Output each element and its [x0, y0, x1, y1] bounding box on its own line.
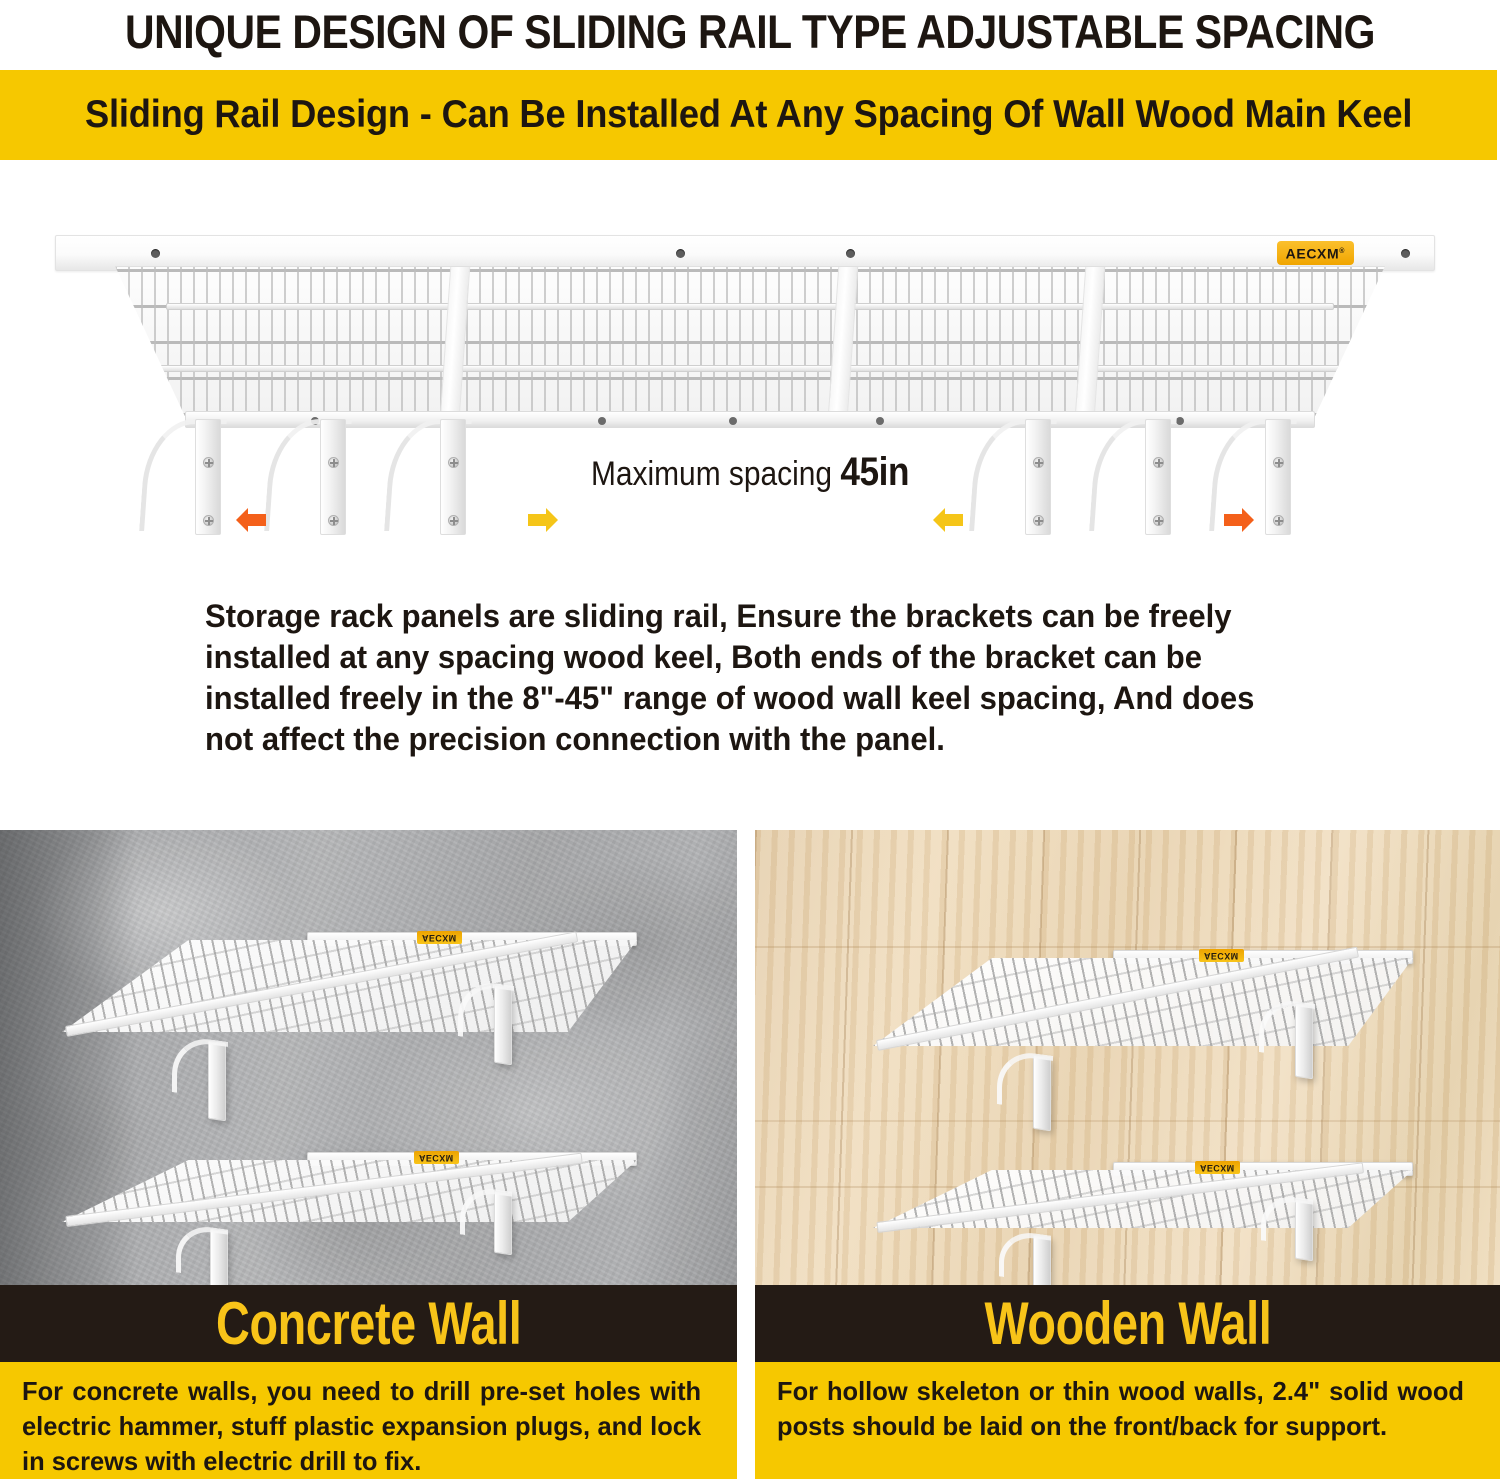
brand-badge: AECXM® — [1277, 241, 1354, 265]
bracket-gusset — [176, 1222, 228, 1279]
page-title: UNIQUE DESIGN OF SLIDING RAIL TYPE ADJUS… — [98, 2, 1403, 64]
panel-body-bar-concrete: For concrete walls, you need to drill pr… — [0, 1362, 737, 1479]
bracket-screw — [203, 515, 214, 526]
arrow-left-inner-icon — [931, 503, 965, 537]
panel-body-concrete: For concrete walls, you need to drill pr… — [22, 1374, 701, 1479]
arrow-right-outer-icon — [1222, 503, 1256, 537]
rail-screw-hole — [676, 249, 685, 258]
rail-screw-hole — [151, 249, 160, 258]
hero-product-illustration: AECXM® — [0, 175, 1500, 575]
panel-title-bar-wooden: Wooden Wall — [755, 1285, 1500, 1362]
description-paragraph: Storage rack panels are sliding rail, En… — [205, 596, 1291, 760]
lip-screw-hole — [598, 417, 606, 425]
infographic-page: UNIQUE DESIGN OF SLIDING RAIL TYPE ADJUS… — [0, 0, 1500, 1479]
rail-screw-hole — [846, 249, 855, 258]
subtitle-text: Sliding Rail Design - Can Be Installed A… — [85, 93, 1412, 137]
panel-body-wooden: For hollow skeleton or thin wood walls, … — [777, 1374, 1464, 1444]
lip-screw-hole — [729, 417, 737, 425]
deck-cross-beam — [153, 365, 1347, 372]
panel-concrete-wall: AECXM AECXM Concrete Wall — [0, 830, 737, 1479]
lip-screw-hole — [1176, 417, 1184, 425]
mounted-shelf-lower: AECXM — [62, 1150, 637, 1260]
max-spacing-value: 45in — [840, 450, 909, 494]
panel-wooden-wall: AECXM AECXM Wooden Wall — [755, 830, 1500, 1479]
shelf-mesh-deck — [115, 266, 1385, 416]
bracket-screw — [328, 515, 339, 526]
bracket-gusset — [997, 1048, 1053, 1112]
wooden-wall-photo: AECXM AECXM — [755, 830, 1500, 1285]
bracket-gusset — [999, 1228, 1051, 1283]
bracket-screw — [1273, 515, 1284, 526]
panel-title-concrete: Concrete Wall — [216, 1291, 521, 1357]
brand-badge: AECXM — [417, 931, 462, 944]
panel-title-wooden: Wooden Wall — [984, 1291, 1271, 1357]
brand-badge-text: AECXM — [1286, 246, 1340, 262]
panel-body-bar-wooden: For hollow skeleton or thin wood walls, … — [755, 1362, 1500, 1479]
brand-badge: AECXM — [1199, 949, 1244, 962]
concrete-wall-photo: AECXM AECXM — [0, 830, 737, 1285]
bracket-screw — [1033, 515, 1044, 526]
bracket-gusset — [172, 1034, 228, 1100]
subtitle-banner: Sliding Rail Design - Can Be Installed A… — [0, 70, 1497, 160]
deck-slats — [115, 267, 1385, 416]
bracket-screw — [448, 515, 459, 526]
deck-cross-beam — [166, 303, 1334, 310]
max-spacing-caption: Maximum spacing 45in — [90, 450, 1410, 495]
shelf-top-rail: AECXM® — [55, 235, 1435, 271]
brand-badge: AECXM — [414, 1151, 459, 1164]
arrow-right-inner-icon — [526, 503, 560, 537]
mounted-shelf-upper: AECXM — [62, 930, 637, 1050]
panel-title-bar-concrete: Concrete Wall — [0, 1285, 737, 1362]
max-spacing-label: Maximum spacing — [591, 455, 840, 493]
mounted-shelf-lower: AECXM — [873, 1160, 1413, 1270]
arrow-left-outer-icon — [234, 503, 268, 537]
lip-screw-hole — [876, 417, 884, 425]
rail-screw-hole — [1401, 249, 1410, 258]
brand-badge: AECXM — [1195, 1161, 1240, 1174]
bracket-screw — [1153, 515, 1164, 526]
mounted-shelf-upper: AECXM — [873, 948, 1413, 1068]
